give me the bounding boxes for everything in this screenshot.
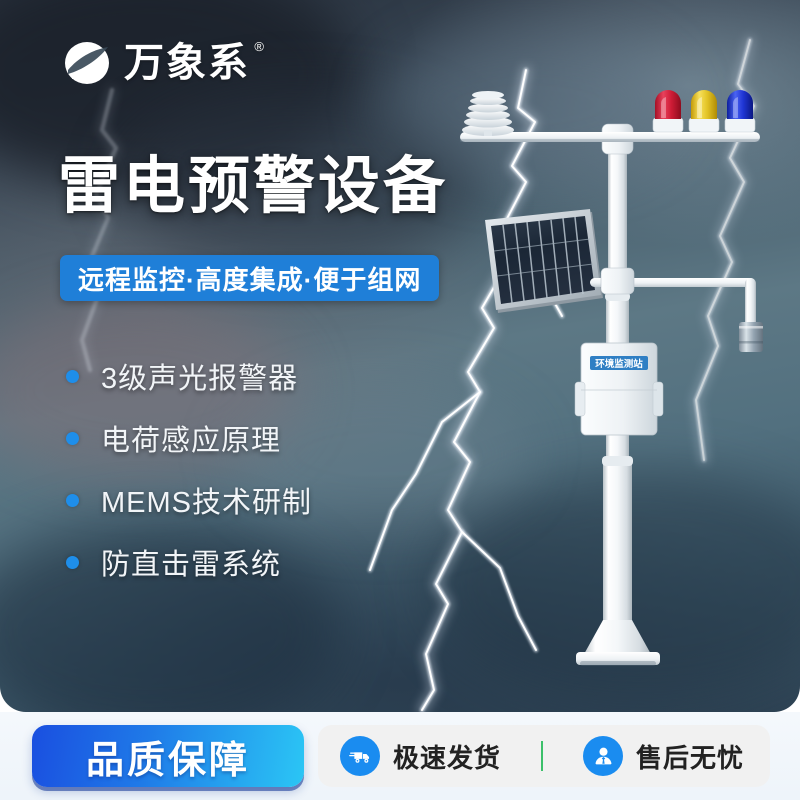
service-label: 售后无忧 bbox=[636, 738, 744, 775]
delivery-truck-icon bbox=[340, 736, 380, 776]
bullet-dot-icon bbox=[66, 556, 79, 569]
list-item: 防直击雷系统 bbox=[66, 531, 426, 593]
feature-label: 防直击雷系统 bbox=[101, 541, 281, 583]
radiation-shield-sensor bbox=[462, 91, 514, 136]
list-item: MEMS技术研制 bbox=[66, 469, 426, 531]
lightning-warning-device-illustration: 环境监测站 bbox=[440, 60, 800, 700]
base-flange bbox=[576, 620, 660, 666]
customer-service-person-icon bbox=[583, 736, 623, 776]
lightning-bolt-icon bbox=[40, 90, 160, 370]
solar-panel bbox=[485, 209, 620, 313]
alarm-beacon-blue bbox=[725, 90, 755, 132]
feature-list: 3级声光报警器 电荷感应原理 MEMS技术研制 防直击雷系统 bbox=[66, 345, 426, 593]
product-poster: 环境监测站 bbox=[0, 0, 800, 800]
brand-name-wrap: 万象系 ® bbox=[124, 43, 250, 83]
subtitle-text: 远程监控·高度集成·便于组网 bbox=[78, 260, 421, 297]
globe-swoosh-logo-icon bbox=[62, 40, 112, 86]
feature-label: MEMS技术研制 bbox=[101, 479, 312, 521]
brand-logo: 万象系 ® bbox=[62, 40, 250, 86]
feature-label: 电荷感应原理 bbox=[101, 417, 281, 459]
service-divider bbox=[541, 741, 543, 771]
registered-mark: ® bbox=[254, 40, 266, 53]
bullet-dot-icon bbox=[66, 432, 79, 445]
feature-label: 3级声光报警器 bbox=[101, 355, 298, 397]
service-label: 极速发货 bbox=[393, 738, 501, 775]
brand-name: 万象系 bbox=[124, 41, 250, 85]
quality-badge[interactable]: 品质保障 bbox=[32, 725, 304, 787]
bullet-dot-icon bbox=[66, 494, 79, 507]
alarm-beacon-yellow bbox=[689, 90, 719, 132]
bullet-dot-icon bbox=[66, 370, 79, 383]
subtitle-banner: 远程监控·高度集成·便于组网 bbox=[60, 255, 439, 301]
list-item: 3级声光报警器 bbox=[66, 345, 426, 407]
quality-badge-label: 品质保障 bbox=[86, 729, 250, 784]
trust-bar: 品质保障 极速发货 bbox=[0, 712, 800, 800]
list-item: 电荷感应原理 bbox=[66, 407, 426, 469]
service-group: 极速发货 售后无忧 bbox=[318, 725, 770, 787]
lightning-sensor-arm bbox=[615, 278, 763, 352]
control-box-label: 环境监测站 bbox=[595, 358, 643, 370]
storm-background: 环境监测站 bbox=[0, 0, 800, 712]
alarm-beacon-red bbox=[653, 90, 683, 132]
service-item-shipping[interactable]: 极速发货 bbox=[340, 736, 501, 776]
service-item-aftersales[interactable]: 售后无忧 bbox=[583, 736, 744, 776]
control-box: 环境监测站 bbox=[575, 343, 663, 435]
page-title: 雷电预警设备 bbox=[58, 156, 448, 218]
